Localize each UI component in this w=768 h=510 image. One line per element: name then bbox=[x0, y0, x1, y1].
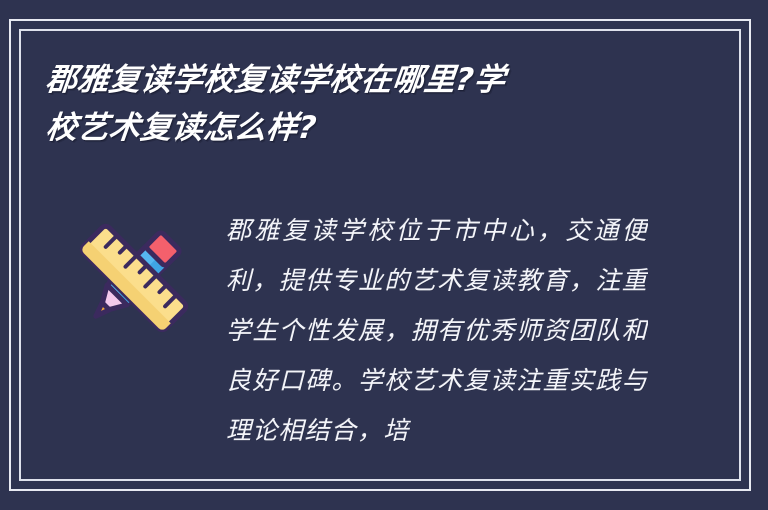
ruler-and-pencil-icon bbox=[72, 216, 196, 340]
article-body: 郡雅复读学校位于市中心，交通便利，提供专业的艺术复读教育，注重学生个性发展，拥有… bbox=[0, 196, 768, 476]
title-line-2: 校艺术复读怎么样? bbox=[43, 104, 708, 152]
article-card: 郡雅复读学校复读学校在哪里?学 校艺术复读怎么样? bbox=[0, 0, 768, 510]
title-line-1: 郡雅复读学校复读学校在哪里?学 bbox=[43, 56, 708, 104]
article-paragraph: 郡雅复读学校位于市中心，交通便利，提供专业的艺术复读教育，注重学生个性发展，拥有… bbox=[226, 206, 648, 476]
page-title: 郡雅复读学校复读学校在哪里?学 校艺术复读怎么样? bbox=[46, 56, 706, 152]
